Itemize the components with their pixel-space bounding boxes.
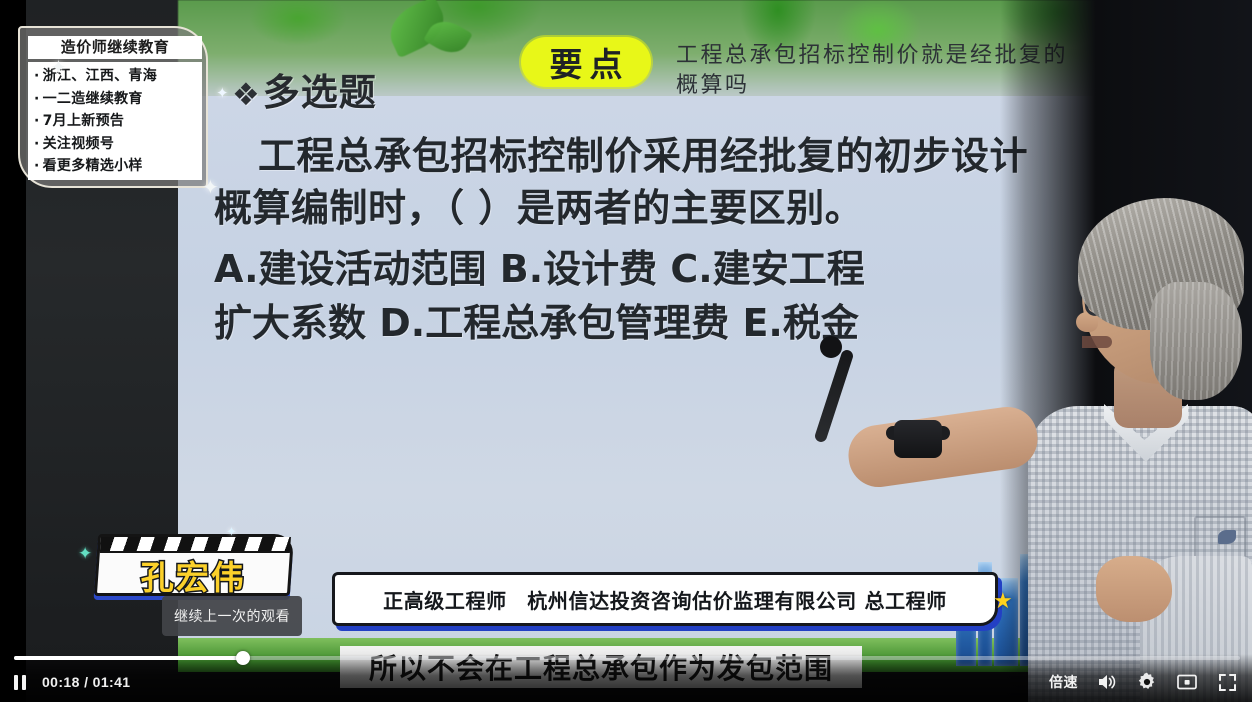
- sparkle-icon: ✦: [226, 524, 237, 540]
- sparkle-icon: ✦: [216, 86, 229, 101]
- time-display: 00:18 / 01:41: [42, 674, 130, 690]
- promo-card-list: 浙江、江西、青海 一二造继续教育 7月上新预告 关注视频号 看更多精选小样: [28, 62, 202, 180]
- speaker-credentials: 正高级工程师 杭州信达投资咨询估价监理有限公司 总工程师: [383, 585, 947, 614]
- keypoint-badge-label: 要点: [543, 38, 630, 86]
- progress-bar-track[interactable]: [14, 656, 1240, 660]
- volume-icon[interactable]: [1096, 671, 1118, 693]
- list-item: 一二造继续教育: [34, 88, 198, 111]
- progress-bar-fill: [14, 656, 244, 660]
- question-text: 工程总承包招标控制价采用经批复的初步设计概算编制时，（ ）是两者的主要区别。: [214, 130, 1066, 234]
- presenter-mouth: [1082, 336, 1112, 348]
- promo-card-title: 造价师继续教育: [28, 36, 202, 59]
- presenter-hair-back: [1150, 282, 1242, 400]
- diamond-bullet-icon: ❖: [232, 77, 261, 113]
- star-icon: ★: [993, 588, 1013, 614]
- fullscreen-icon[interactable]: [1216, 671, 1238, 693]
- sparkle-icon: ✦: [50, 58, 67, 78]
- presenter-figure: [1018, 86, 1252, 702]
- list-item: 7月上新预告: [34, 110, 198, 133]
- list-item: 看更多精选小样: [34, 155, 198, 178]
- presenter-hand-right: [1096, 556, 1172, 622]
- controls-right-group: 倍速: [1049, 670, 1238, 694]
- pause-icon[interactable]: [14, 675, 26, 690]
- speaker-name-tag: 孔宏伟: [94, 534, 294, 596]
- progress-bar-handle[interactable]: [236, 651, 250, 665]
- shirt-logo-icon: [1218, 530, 1236, 544]
- tooltip-text: 继续上一次的观看: [174, 606, 290, 626]
- question-type-heading: ❖多选题: [232, 62, 377, 116]
- keypoint-badge: 要点: [521, 37, 651, 87]
- sparkle-icon: ✦: [202, 178, 219, 198]
- question-type-label: 多选题: [263, 71, 377, 114]
- list-item: 关注视频号: [34, 133, 198, 156]
- options-line-2: 扩大系数 D.工程总承包管理费 E.税金: [214, 296, 1070, 350]
- playback-speed-button[interactable]: 倍速: [1049, 672, 1078, 692]
- controls-left-group: 00:18 / 01:41: [14, 670, 130, 694]
- speaker-name: 孔宏伟: [98, 551, 288, 599]
- question-options: A.建设活动范围 B.设计费 C.建安工程 扩大系数 D.工程总承包管理费 E.…: [214, 242, 1070, 350]
- wristwatch-icon: [894, 420, 942, 458]
- resume-playback-tooltip[interactable]: 继续上一次的观看: [162, 596, 302, 636]
- presenter-fist: [820, 336, 842, 358]
- speaker-credentials-bar: 正高级工程师 杭州信达投资咨询估价监理有限公司 总工程师: [332, 572, 998, 626]
- video-player[interactable]: ❖多选题 要点 工程总承包招标控制价就是经批复的概算吗 工程总承包招标控制价采用…: [0, 0, 1252, 702]
- picture-in-picture-icon[interactable]: [1176, 671, 1198, 693]
- promo-card: 造价师继续教育 浙江、江西、青海 一二造继续教育 7月上新预告 关注视频号 看更…: [18, 26, 208, 188]
- options-line-1: A.建设活动范围 B.设计费 C.建安工程: [214, 242, 1070, 296]
- gear-icon[interactable]: [1136, 671, 1158, 693]
- sparkle-icon: ✦: [78, 544, 92, 564]
